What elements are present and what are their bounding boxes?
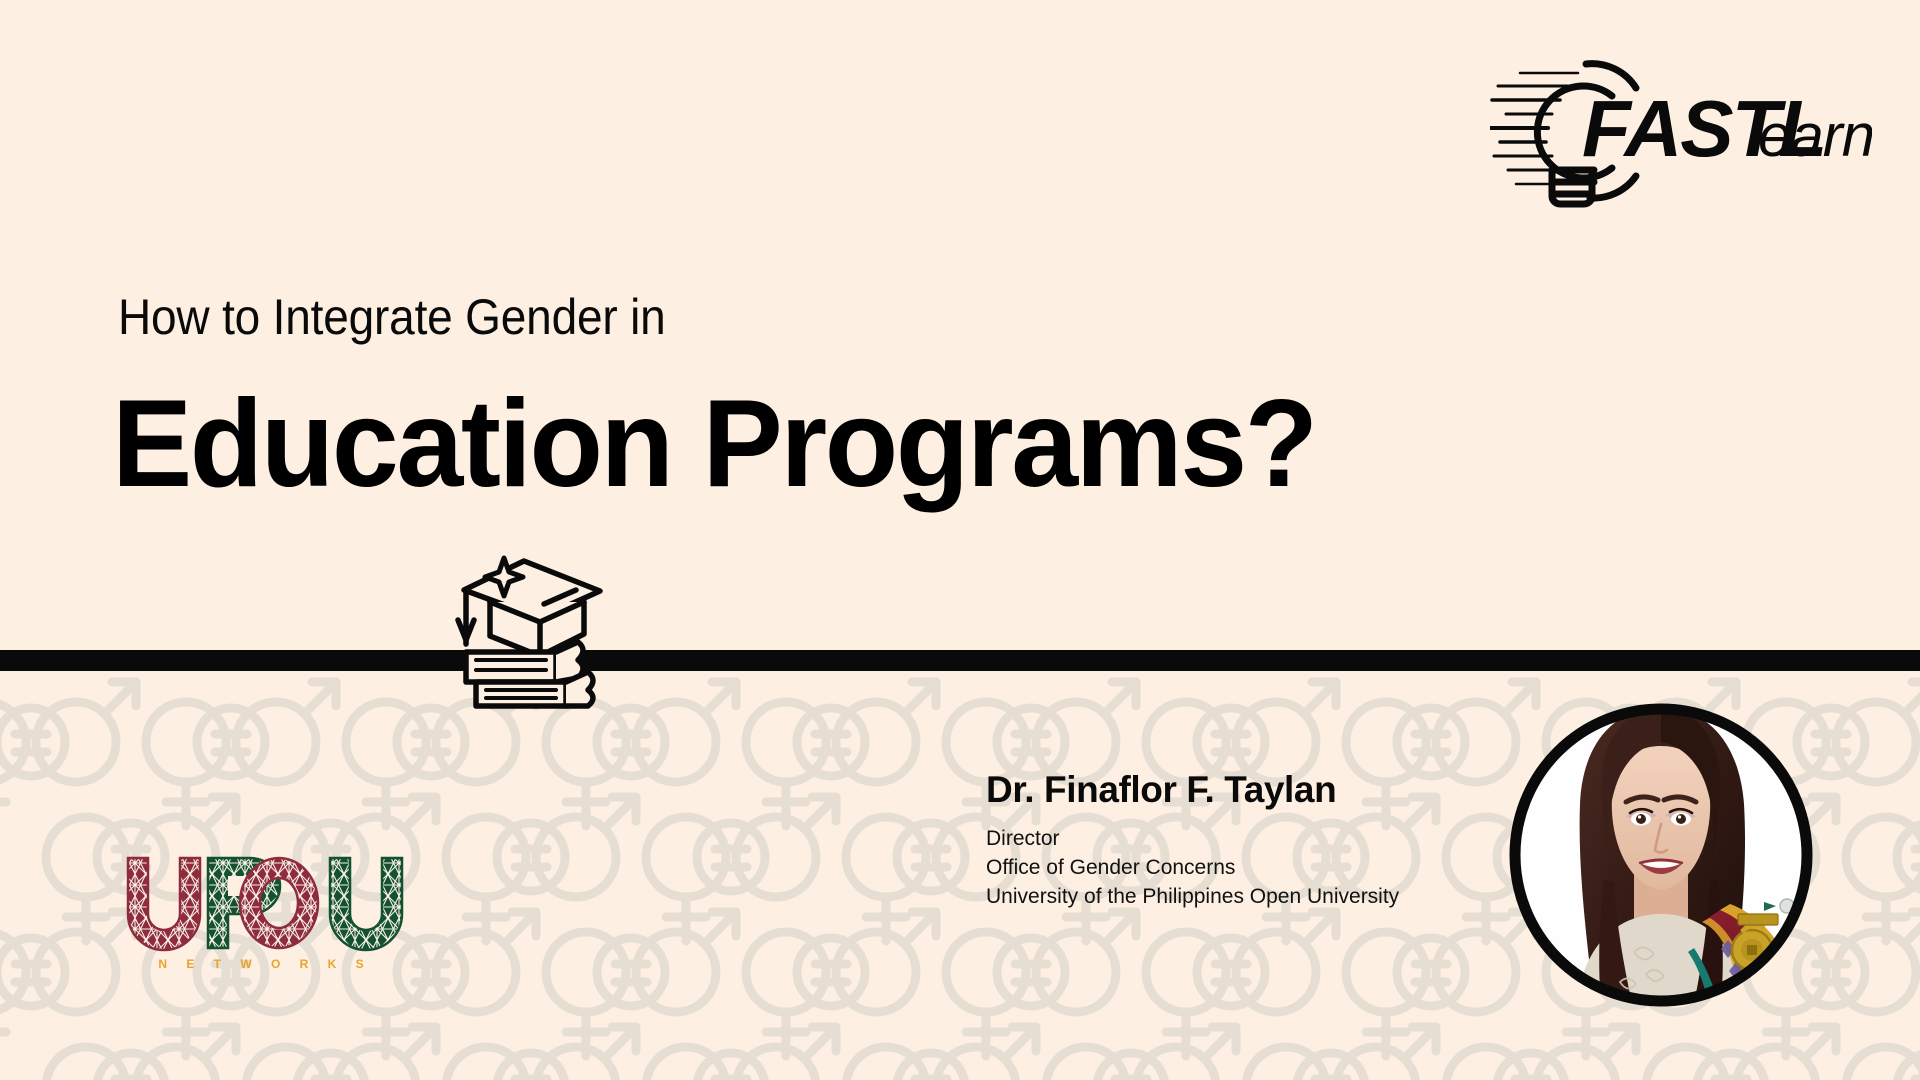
speaker-role: Director bbox=[986, 825, 1466, 854]
portrait-photo bbox=[1506, 700, 1816, 1020]
speaker-name: Dr. Finaflor F. Taylan bbox=[986, 770, 1466, 811]
slide-canvas: FASTL earn How to Integrate Gender in Ed… bbox=[0, 0, 1920, 1080]
slide-subtitle: How to Integrate Gender in bbox=[118, 288, 666, 346]
fastlearn-logo: FASTL earn bbox=[1490, 48, 1872, 208]
speaker-institution: University of the Philippines Open Unive… bbox=[986, 883, 1466, 912]
divider-right-segment bbox=[632, 650, 1920, 671]
slide-title: Education Programs? bbox=[112, 382, 1316, 506]
speaker-office: Office of Gender Concerns bbox=[986, 854, 1466, 883]
upou-networks-logo: N E T W O R K S bbox=[124, 852, 406, 974]
speaker-info-block: Dr. Finaflor F. Taylan Director Office o… bbox=[986, 770, 1466, 912]
graduation-cap-and-books-icon bbox=[448, 552, 614, 712]
fastlearn-wordmark-light: earn bbox=[1758, 102, 1872, 169]
speaker-portrait bbox=[1506, 700, 1816, 1010]
upou-tagline: N E T W O R K S bbox=[158, 957, 371, 971]
